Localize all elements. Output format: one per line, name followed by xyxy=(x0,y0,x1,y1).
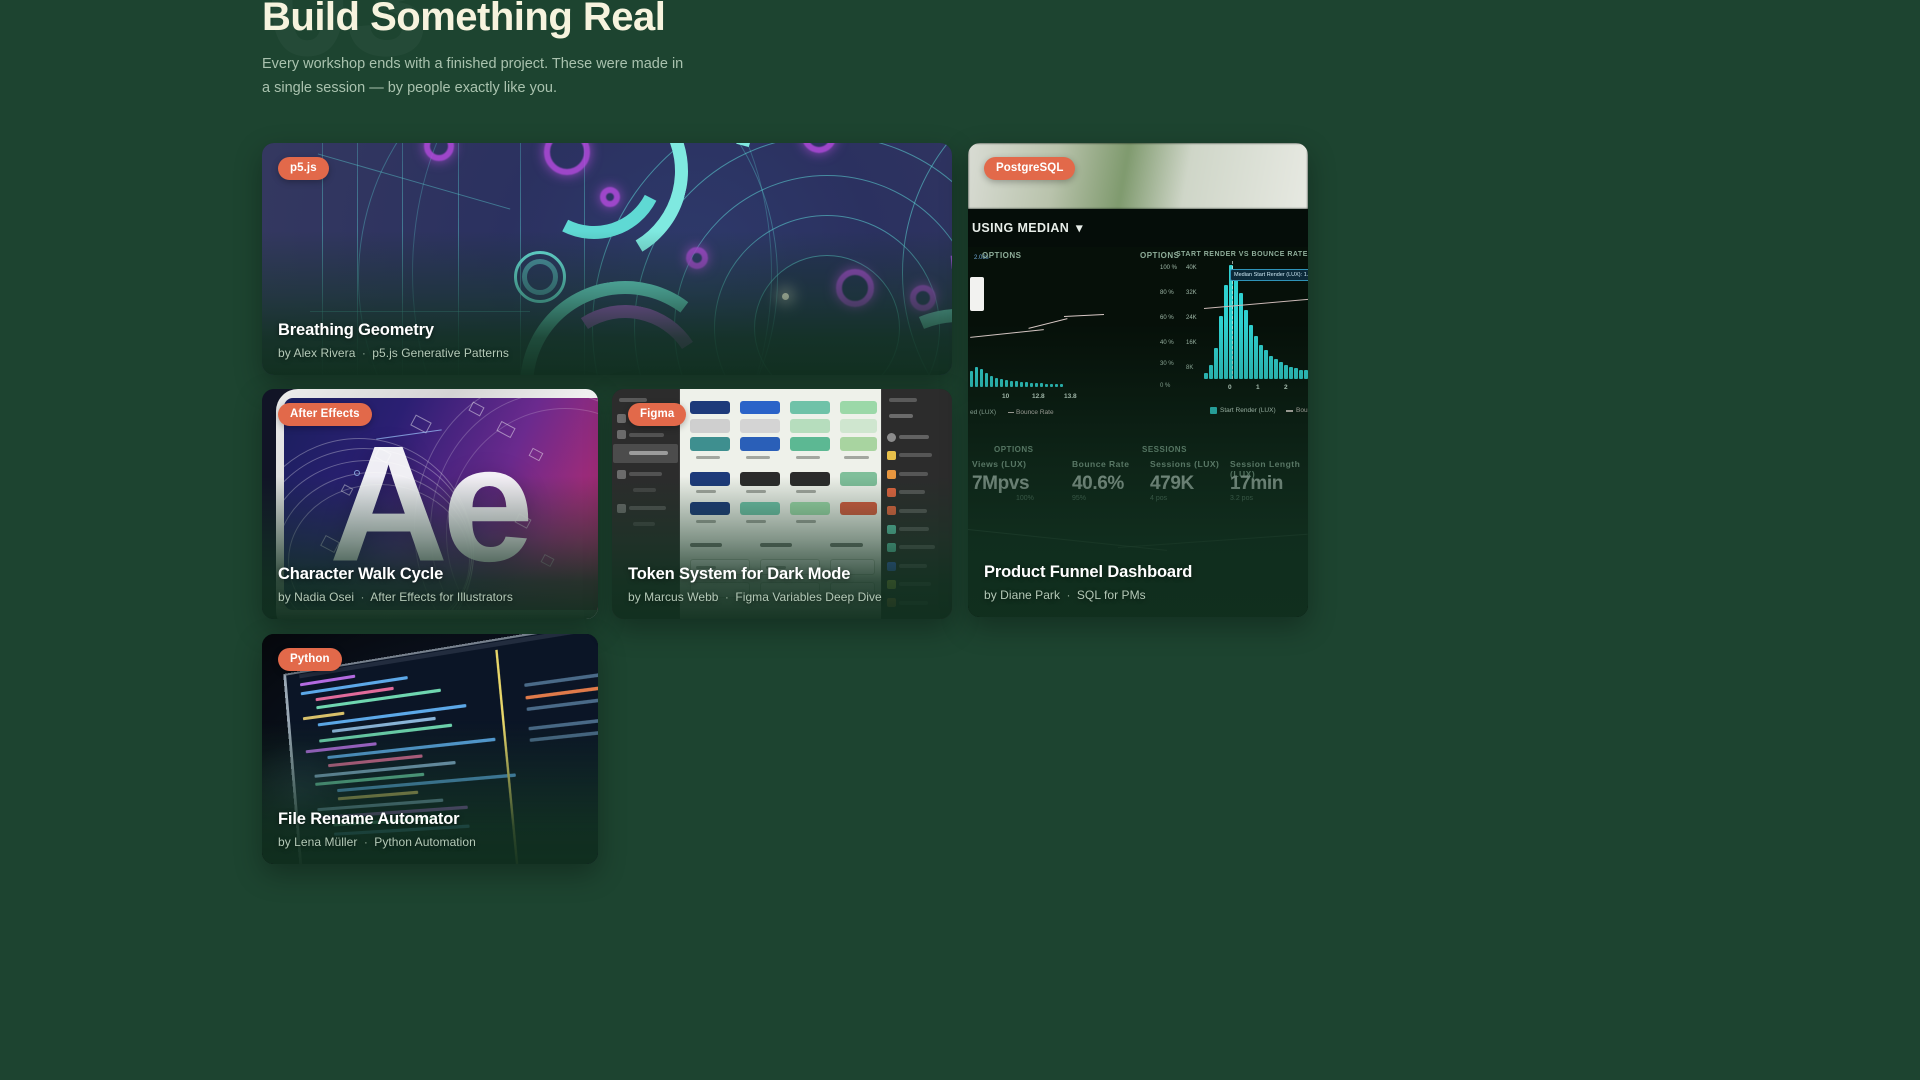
page-title: Build Something Real xyxy=(262,0,902,41)
project-author: Nadia Osei xyxy=(294,590,354,604)
bar xyxy=(1239,293,1243,379)
panel-title-colors xyxy=(889,414,913,418)
code-line xyxy=(526,685,598,699)
project-badge[interactable]: Python xyxy=(278,648,342,671)
bar xyxy=(1289,367,1293,379)
project-author: Marcus Webb xyxy=(644,590,718,604)
project-workshop: After Effects for Illustrators xyxy=(370,590,513,604)
swatch-label xyxy=(796,490,816,493)
token-swatch xyxy=(887,525,896,534)
bar xyxy=(1060,384,1063,387)
layer-icon xyxy=(617,470,626,479)
kpi-value: 479K xyxy=(1150,473,1194,495)
color-swatch xyxy=(740,472,780,486)
bar xyxy=(1284,365,1288,379)
project-card-character-walk-cycle[interactable]: Ae After Effects Character Walk Cycle by… xyxy=(262,389,598,619)
x-tick: 12.8 xyxy=(1032,393,1045,400)
accent-blob xyxy=(686,247,708,269)
panel-title-design xyxy=(889,398,917,402)
project-workshop: p5.js Generative Patterns xyxy=(372,346,509,360)
bar xyxy=(1294,368,1298,379)
bar xyxy=(1030,383,1033,387)
project-title: Breathing Geometry xyxy=(278,321,936,340)
y-tick: 100 % xyxy=(1160,265,1177,271)
detail-ring xyxy=(522,259,558,295)
bar xyxy=(1254,336,1258,379)
y-tick: 80 % xyxy=(1160,290,1174,296)
footer-sparkline xyxy=(968,529,1167,551)
grid-column-middle: Figma Token System for Dark Mode by Marc… xyxy=(612,389,952,619)
x-tick: 1 xyxy=(1256,384,1260,391)
project-badge[interactable]: p5.js xyxy=(278,157,329,180)
code-line xyxy=(303,711,344,720)
mini-card xyxy=(970,277,984,311)
footer-sparkline xyxy=(1118,534,1308,548)
bar xyxy=(990,376,993,387)
bar xyxy=(970,371,973,387)
byline-separator: · xyxy=(1066,588,1070,602)
color-swatch xyxy=(690,401,730,415)
column-header-pressed xyxy=(760,543,792,547)
grid-line xyxy=(310,311,530,312)
project-workshop: Python Automation xyxy=(374,835,476,849)
project-title: Character Walk Cycle xyxy=(278,565,582,584)
bar xyxy=(1279,362,1283,379)
swatch-label xyxy=(746,490,766,493)
project-author: Alex Rivera xyxy=(294,346,356,360)
project-byline: by Marcus Webb · Figma Variables Deep Di… xyxy=(628,590,936,604)
project-byline: by Lena Müller · Python Automation xyxy=(278,835,582,849)
bar xyxy=(1219,316,1223,379)
project-card-token-system[interactable]: Figma Token System for Dark Mode by Marc… xyxy=(612,389,952,619)
project-workshop: Figma Variables Deep Dive xyxy=(735,590,881,604)
kpi-sub: 100% xyxy=(1016,495,1034,502)
token-swatch xyxy=(887,470,896,479)
color-swatch xyxy=(740,401,780,415)
legend-swatch xyxy=(1210,407,1217,414)
chart-tooltip: Median Start Render (LUX): 1.03s xyxy=(1230,269,1308,281)
legend-item: Start Render (LUX) xyxy=(1220,407,1276,414)
project-badge[interactable]: PostgreSQL xyxy=(984,157,1075,180)
bar xyxy=(1234,276,1238,379)
code-line xyxy=(316,689,441,710)
bar xyxy=(1050,384,1053,387)
swatch-label xyxy=(796,520,816,523)
byline-prefix: by xyxy=(278,835,291,849)
bar xyxy=(1274,359,1278,379)
bar xyxy=(995,378,998,387)
token-swatch xyxy=(887,488,896,497)
kpi-label[interactable]: OPTIONS xyxy=(994,445,1034,454)
project-byline: by Alex Rivera · p5.js Generative Patter… xyxy=(278,346,936,360)
bar xyxy=(1000,379,1003,387)
swatch-label xyxy=(746,456,770,459)
y-tick: 60 % xyxy=(1160,315,1174,321)
layer-name xyxy=(633,488,656,492)
kpi-label: SESSIONS xyxy=(1142,445,1187,454)
project-title: Product Funnel Dashboard xyxy=(984,563,1292,582)
layer-name xyxy=(629,506,665,510)
color-swatch xyxy=(790,502,830,516)
project-byline: by Nadia Osei · After Effects for Illust… xyxy=(278,590,582,604)
swatch-label xyxy=(844,456,868,459)
swatch-label xyxy=(696,490,716,493)
main-bar-chart: 100 % 80 % 60 % 40 % 30 % 0 % 40K 32K 24… xyxy=(1164,265,1304,393)
chart-title: START RENDER VS BOUNCE RATE xyxy=(1176,251,1308,258)
layer-name xyxy=(629,433,664,437)
bar xyxy=(1015,381,1018,387)
project-workshop: SQL for PMs xyxy=(1077,588,1146,602)
swatch-label xyxy=(696,520,716,523)
byline-separator: · xyxy=(362,346,366,360)
column-header-styles xyxy=(830,543,862,547)
kpi-sub: 4 pos xyxy=(1150,495,1167,502)
column-header-buttons xyxy=(690,543,722,547)
card-meta: Character Walk Cycle by Nadia Osei · Aft… xyxy=(278,565,582,604)
layer-name xyxy=(629,451,668,455)
byline-prefix: by xyxy=(984,588,997,602)
x-tick: 10 xyxy=(1002,393,1009,400)
bar xyxy=(1269,356,1273,379)
grid-column-wide: p5.js Breathing Geometry by Alex Rivera … xyxy=(262,143,952,375)
bar xyxy=(1244,310,1248,379)
panel-title xyxy=(619,398,647,402)
bar xyxy=(1259,345,1263,379)
y-tick: 30 % xyxy=(1160,361,1174,367)
project-title: File Rename Automator xyxy=(278,810,582,829)
color-swatch xyxy=(840,419,876,433)
layer-icon xyxy=(617,504,626,513)
section-header: 03 Build Something Real Every workshop e… xyxy=(262,0,902,101)
bar xyxy=(1045,384,1048,387)
project-author: Lena Müller xyxy=(294,835,357,849)
color-swatch xyxy=(740,419,780,433)
y-tick-right: 8K xyxy=(1186,365,1193,371)
mini-bar-chart xyxy=(968,365,1118,387)
sparkline xyxy=(970,329,1044,338)
aggregate-selector[interactable]: USING MEDIAN ▾ xyxy=(972,220,1083,235)
byline-prefix: by xyxy=(278,590,291,604)
color-swatch xyxy=(740,502,780,516)
light-spark xyxy=(782,293,789,300)
accent-blob xyxy=(910,285,936,311)
token-name xyxy=(899,527,930,531)
token-swatch xyxy=(887,506,896,515)
layer-name xyxy=(633,522,654,526)
bar xyxy=(1005,380,1008,387)
bars-area xyxy=(1204,265,1304,379)
project-card-file-rename-automator[interactable]: Python File Rename Automator by Lena Mül… xyxy=(262,634,598,864)
sparkline xyxy=(1064,314,1104,317)
color-swatch xyxy=(690,502,730,516)
layer-name xyxy=(629,472,661,476)
x-tick: 0 xyxy=(1228,384,1232,391)
y-tick-right: 32K xyxy=(1186,290,1197,296)
bar xyxy=(1010,381,1013,387)
kpi-value: 40.6% xyxy=(1072,473,1124,495)
chevron-down-icon[interactable]: ▾ xyxy=(1076,220,1083,235)
code-line xyxy=(337,774,516,793)
color-swatch xyxy=(840,502,876,516)
bar xyxy=(985,373,988,387)
bar xyxy=(1299,370,1303,379)
aggregate-value: MEDIAN xyxy=(1017,221,1069,235)
bar xyxy=(980,369,983,387)
y-tick-right: 24K xyxy=(1186,315,1197,321)
legend-item: Bounce Rate xyxy=(1016,409,1054,416)
code-line xyxy=(530,727,598,742)
kpi-value: 7Mpvs xyxy=(972,473,1029,495)
bar xyxy=(1304,370,1308,379)
color-swatch xyxy=(840,401,876,415)
y-tick: 0 % xyxy=(1160,383,1170,389)
color-swatch xyxy=(690,437,730,451)
x-tick: 13.8 xyxy=(1064,393,1077,400)
y-tick-right: 40K xyxy=(1186,265,1197,271)
bar xyxy=(1020,382,1023,387)
dashboard-panel: 2.08s xyxy=(968,247,1308,617)
token-name xyxy=(899,435,930,439)
kpi-sub: 95% xyxy=(1072,495,1086,502)
grid-column-left: Ae After Effects Character Walk Cycle by… xyxy=(262,389,598,864)
section-subtitle: Every workshop ends with a finished proj… xyxy=(262,53,694,101)
bar xyxy=(1249,325,1253,379)
byline-separator: · xyxy=(364,835,368,849)
card-meta: Token System for Dark Mode by Marcus Web… xyxy=(628,565,936,604)
kpi-label: Sessions (LUX) xyxy=(1150,459,1219,469)
kpi-label: Views (LUX) xyxy=(972,459,1026,469)
project-author: Diane Park xyxy=(1000,588,1060,602)
token-name xyxy=(899,490,926,494)
bar xyxy=(1040,383,1043,387)
project-card-product-funnel-dashboard[interactable]: USING MEDIAN ▾ 2.08s xyxy=(968,143,1308,617)
bar xyxy=(1035,383,1038,387)
color-swatch xyxy=(840,472,876,486)
bar xyxy=(1209,365,1213,379)
swatch-label xyxy=(696,456,720,459)
color-swatch xyxy=(790,419,830,433)
token-name xyxy=(899,509,927,513)
y-tick: 40 % xyxy=(1160,340,1174,346)
byline-separator: · xyxy=(725,590,729,604)
dashboard-artwork: USING MEDIAN ▾ 2.08s xyxy=(968,143,1308,617)
token-name xyxy=(899,453,933,457)
legend-swatch-line xyxy=(1008,412,1014,413)
options-label[interactable]: OPTIONS xyxy=(1140,251,1180,260)
legend-item: ed (LUX) xyxy=(970,409,996,416)
card-meta: Product Funnel Dashboard by Diane Park ·… xyxy=(984,563,1292,602)
color-swatch xyxy=(740,437,780,451)
legend-swatch-line xyxy=(1286,410,1293,411)
color-swatch xyxy=(790,401,830,415)
token-swatch xyxy=(887,543,896,552)
swatch-label xyxy=(746,520,766,523)
bar xyxy=(1214,348,1218,379)
byline-separator: · xyxy=(360,590,364,604)
color-swatch xyxy=(690,472,730,486)
bar xyxy=(1055,384,1058,387)
kpi-label: Bounce Rate xyxy=(1072,459,1129,469)
legend-item: Bounce xyxy=(1296,407,1308,414)
bar xyxy=(1025,382,1028,387)
token-name xyxy=(899,472,929,476)
project-badge[interactable]: After Effects xyxy=(278,403,372,426)
swatch-label xyxy=(796,456,820,459)
kpi-sub: 3.2 pos xyxy=(1230,495,1253,502)
project-card-breathing-geometry[interactable]: p5.js Breathing Geometry by Alex Rivera … xyxy=(262,143,952,375)
byline-prefix: by xyxy=(278,346,291,360)
card-meta: File Rename Automator by Lena Müller · P… xyxy=(278,810,582,849)
token-name xyxy=(899,545,936,549)
y-tick-right: 16K xyxy=(1186,340,1197,346)
card-meta: Breathing Geometry by Alex Rivera · p5.j… xyxy=(278,321,936,360)
kpi-value: 17min xyxy=(1230,473,1283,495)
layer-icon xyxy=(617,414,626,423)
byline-prefix: by xyxy=(628,590,641,604)
x-tick: 2 xyxy=(1284,384,1288,391)
code-line xyxy=(524,670,598,687)
bar xyxy=(1224,285,1228,379)
options-label[interactable]: OPTIONS xyxy=(982,251,1022,260)
project-title: Token System for Dark Mode xyxy=(628,565,936,584)
color-swatch xyxy=(690,419,730,433)
grid-column-right: USING MEDIAN ▾ 2.08s xyxy=(968,143,1308,617)
bounce-rate-line xyxy=(1204,298,1308,309)
sparkline xyxy=(1028,318,1067,329)
accent-blob xyxy=(836,269,874,307)
accent-blob xyxy=(600,187,620,207)
project-byline: by Diane Park · SQL for PMs xyxy=(984,588,1292,602)
code-line xyxy=(529,716,598,730)
project-badge[interactable]: Figma xyxy=(628,403,686,426)
token-swatch xyxy=(887,433,896,442)
color-swatch xyxy=(790,472,830,486)
token-swatch xyxy=(887,451,896,460)
bar xyxy=(975,367,978,387)
color-swatch xyxy=(840,437,876,451)
layer-icon xyxy=(617,430,626,439)
bar xyxy=(1204,373,1208,379)
color-swatch xyxy=(790,437,830,451)
bar xyxy=(1264,350,1268,379)
card-media: USING MEDIAN ▾ 2.08s xyxy=(968,143,1308,617)
